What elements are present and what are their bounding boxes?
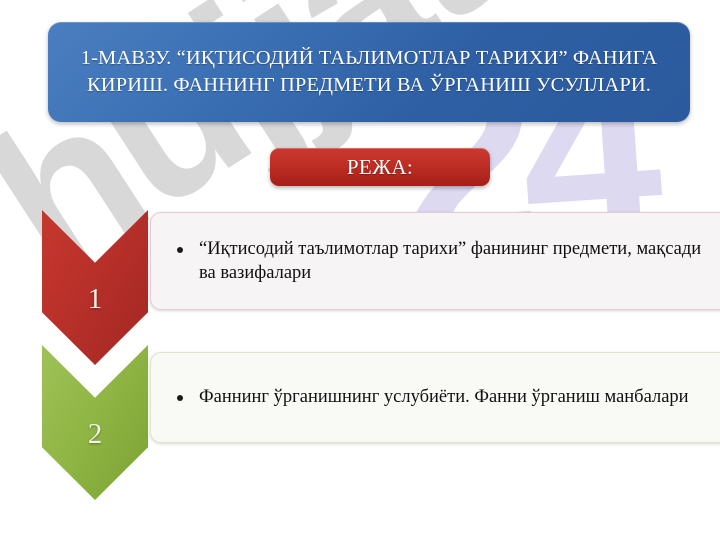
- plan-item-1-text: “Иқтисодий таълимотлар тарихи” фанининг …: [199, 237, 716, 285]
- plan-banner: РЕЖА:: [270, 148, 490, 186]
- bullet-line-2: Фаннинг ўрганишнинг услубиёти. Фанни ўрг…: [151, 385, 720, 409]
- chevron-marker-1: 1: [42, 210, 148, 365]
- bullet-point-icon: [177, 395, 183, 401]
- bullet-line-1: “Иқтисодий таълимотлар тарихи” фанининг …: [151, 237, 720, 285]
- slide-title-text: 1-МАВЗУ. “ИҚТИСОДИЙ ТАЬЛИМОТЛАР ТАРИХИ” …: [48, 45, 690, 99]
- bullet-point-icon: [177, 247, 183, 253]
- item-number-2: 2: [88, 418, 103, 451]
- presentation-slide: 24 hujjat 1-МАВЗУ. “ИҚТИСОДИЙ ТАЬЛИМОТЛА…: [0, 0, 720, 540]
- item-number-1: 1: [88, 283, 103, 316]
- slide-title-banner: 1-МАВЗУ. “ИҚТИСОДИЙ ТАЬЛИМОТЛАР ТАРИХИ” …: [48, 22, 690, 122]
- chevron-marker-2: 2: [42, 345, 148, 500]
- plan-label: РЕЖА:: [347, 155, 413, 180]
- plan-item-1-box: “Иқтисодий таълимотлар тарихи” фанининг …: [150, 212, 720, 310]
- plan-item-2-box: Фаннинг ўрганишнинг услубиёти. Фанни ўрг…: [150, 352, 720, 443]
- plan-item-2-text: Фаннинг ўрганишнинг услубиёти. Фанни ўрг…: [199, 385, 689, 409]
